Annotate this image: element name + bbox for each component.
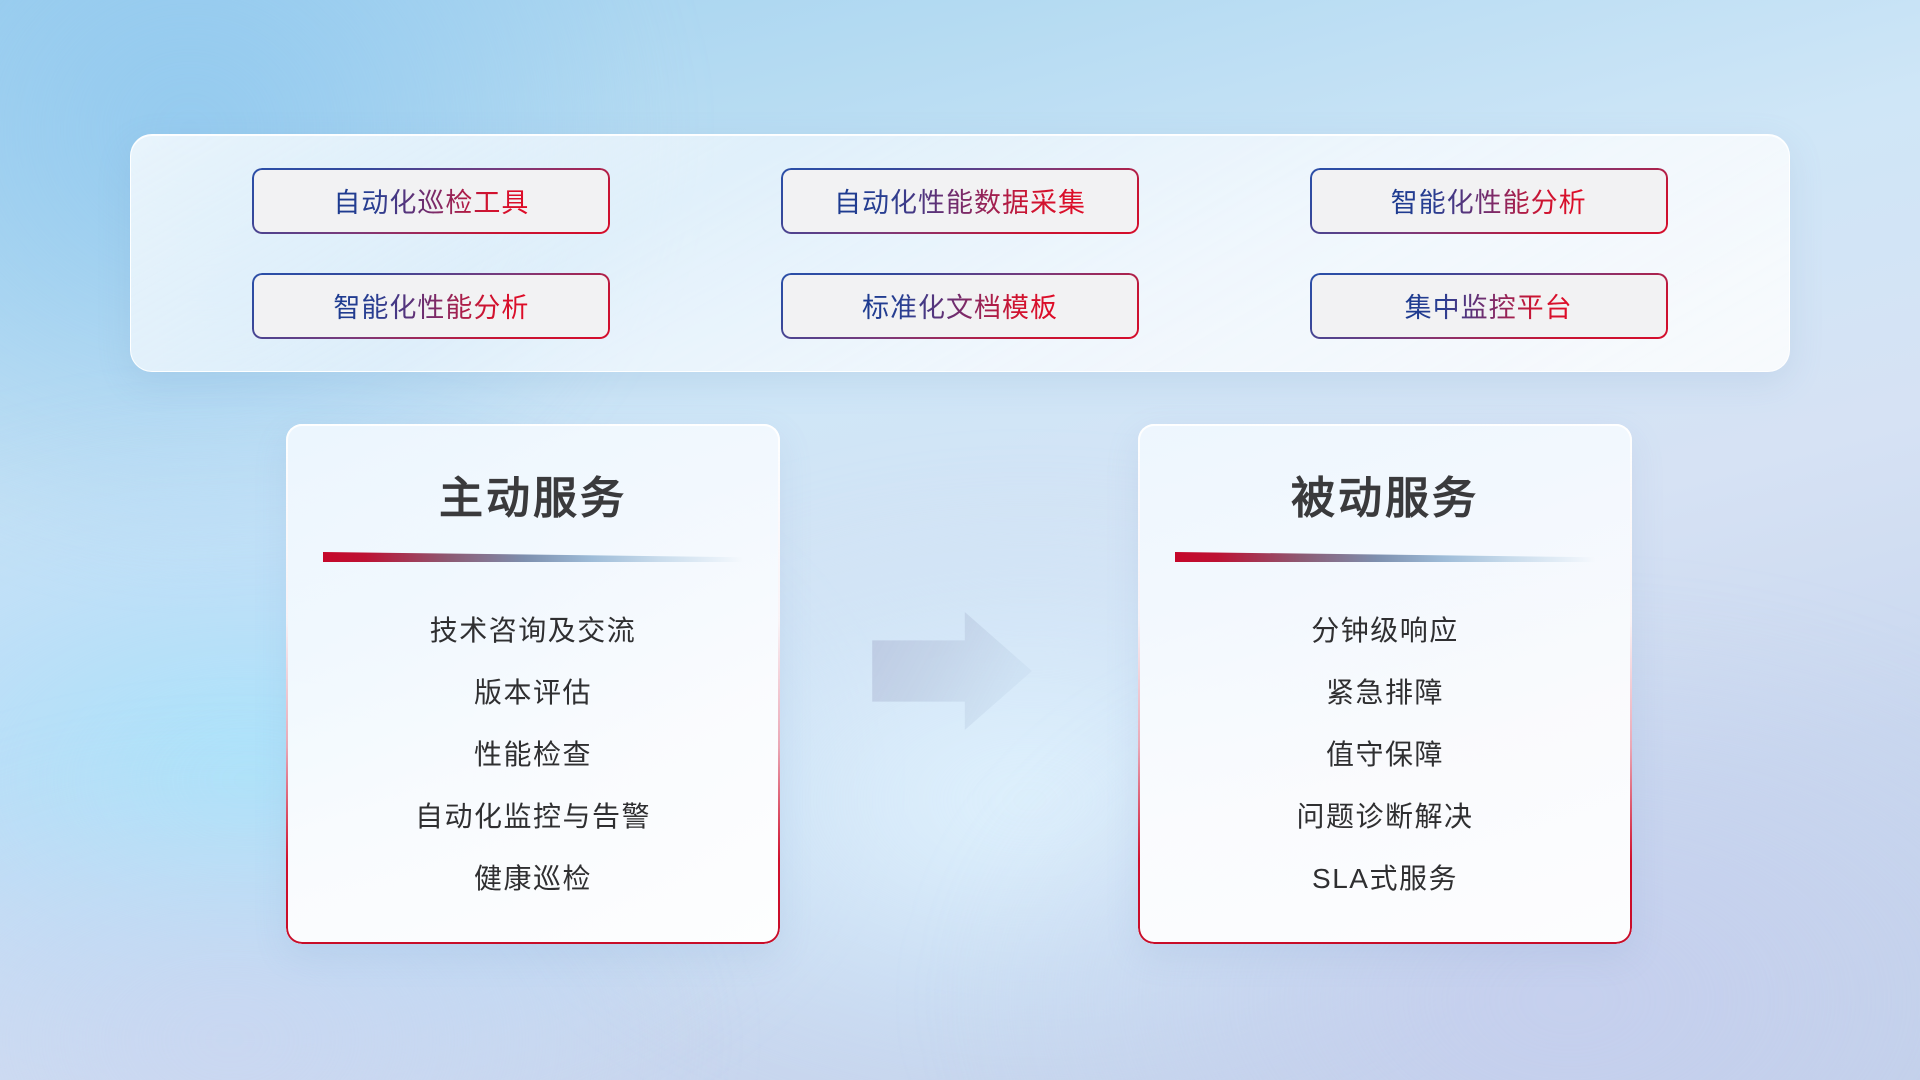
service-card-proactive: 主动服务 技术咨询及交流 版本评估 性能检查 自动化监控与告警 健康巡检	[286, 424, 780, 944]
list-item: 健康巡检	[474, 848, 592, 910]
capability-tag-label: 集中监控平台	[1405, 286, 1573, 325]
capability-tag-panel: 自动化巡检工具 自动化性能数据采集 智能化性能分析 智能化性能分析 标准化文档模…	[130, 134, 1790, 372]
slide-canvas: 自动化巡检工具 自动化性能数据采集 智能化性能分析 智能化性能分析 标准化文档模…	[0, 0, 1920, 1080]
card-title-divider	[1175, 552, 1595, 562]
arrow-right-icon	[872, 612, 1032, 730]
capability-tag-label: 智能化性能分析	[1391, 181, 1587, 220]
capability-tag-0[interactable]: 自动化巡检工具	[252, 168, 610, 234]
service-card-reactive: 被动服务 分钟级响应 紧急排障 值守保障 问题诊断解决 SLA式服务	[1138, 424, 1632, 944]
capability-tag-label: 自动化性能数据采集	[834, 181, 1086, 220]
list-item: 紧急排障	[1326, 662, 1444, 724]
list-item: SLA式服务	[1312, 848, 1458, 910]
card-title: 主动服务	[286, 462, 780, 526]
capability-tag-label: 标准化文档模板	[862, 286, 1058, 325]
list-item: 问题诊断解决	[1296, 786, 1473, 848]
capability-tag-5[interactable]: 集中监控平台	[1310, 273, 1668, 339]
list-item: 自动化监控与告警	[415, 786, 651, 848]
list-item: 版本评估	[474, 662, 592, 724]
capability-tag-3[interactable]: 智能化性能分析	[252, 273, 610, 339]
list-item: 分钟级响应	[1311, 600, 1459, 662]
capability-tag-2[interactable]: 智能化性能分析	[1310, 168, 1668, 234]
card-title-divider	[323, 552, 743, 562]
list-item: 值守保障	[1326, 724, 1444, 786]
card-item-list: 技术咨询及交流 版本评估 性能检查 自动化监控与告警 健康巡检	[286, 600, 780, 910]
capability-tag-1[interactable]: 自动化性能数据采集	[781, 168, 1139, 234]
capability-tag-4[interactable]: 标准化文档模板	[781, 273, 1139, 339]
list-item: 技术咨询及交流	[430, 600, 637, 662]
card-item-list: 分钟级响应 紧急排障 值守保障 问题诊断解决 SLA式服务	[1138, 600, 1632, 910]
card-title: 被动服务	[1138, 462, 1632, 526]
capability-tag-label: 智能化性能分析	[333, 286, 529, 325]
list-item: 性能检查	[474, 724, 592, 786]
capability-tag-label: 自动化巡检工具	[333, 181, 529, 220]
